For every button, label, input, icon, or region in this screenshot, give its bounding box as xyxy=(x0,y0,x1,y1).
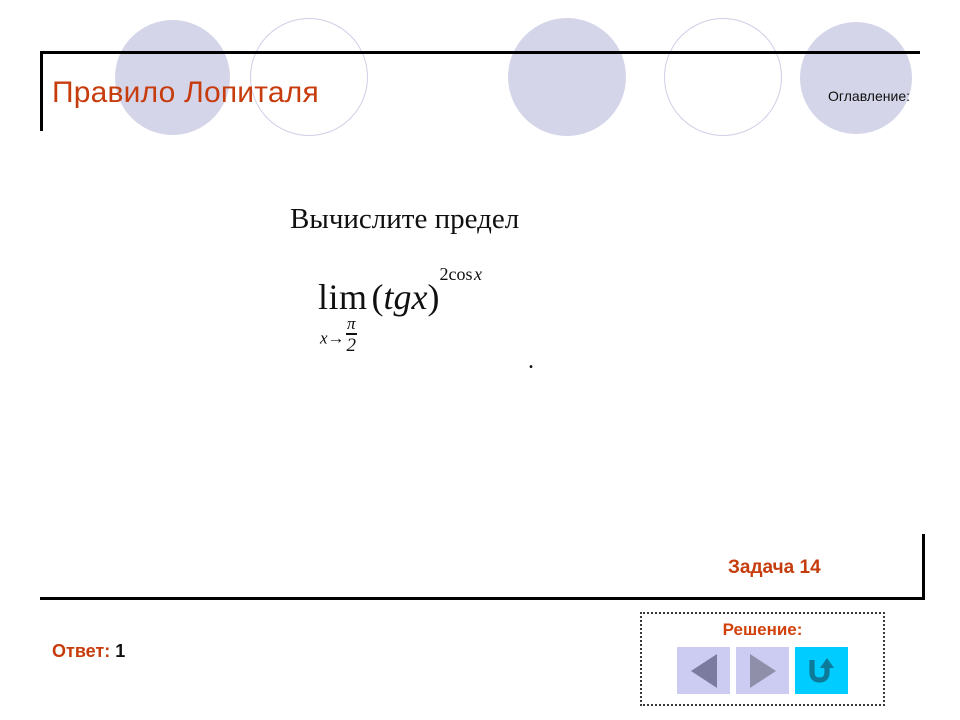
decor-circle-4 xyxy=(664,18,782,136)
decor-circle-5 xyxy=(800,22,912,134)
header-rule-horizontal xyxy=(40,51,920,54)
navigation-panel: Решение: xyxy=(640,612,885,706)
solution-label[interactable]: Решение: xyxy=(642,620,883,640)
exponent: 2cos x xyxy=(440,265,483,283)
open-paren: ( xyxy=(372,277,384,317)
limit-operator: lim x→π2 xyxy=(318,278,368,355)
contents-label[interactable]: Оглавление: xyxy=(828,88,910,104)
previous-slide-button[interactable] xyxy=(677,647,730,694)
exponent-variable: x xyxy=(474,264,482,284)
fraction-numerator: π xyxy=(346,315,358,332)
answer-line: Ответ:1 xyxy=(52,641,125,662)
limit-sub-fraction: π2 xyxy=(346,315,358,355)
answer-value: 1 xyxy=(115,641,125,661)
u-turn-arrow-icon xyxy=(805,654,839,688)
limit-sub-variable: x xyxy=(320,329,328,348)
return-home-button[interactable] xyxy=(795,647,848,694)
exponent-coefficient: 2 xyxy=(440,264,449,284)
slide-canvas: Правило Лопиталя Оглавление: Вычислите п… xyxy=(0,0,960,720)
fraction-denominator: 2 xyxy=(346,336,358,355)
navigation-button-row xyxy=(642,647,883,694)
tangent-base: tgx xyxy=(384,277,428,317)
limit-sub-arrow: → xyxy=(328,329,345,348)
exponent-function: cos xyxy=(449,264,473,284)
task-number: Задача 14 xyxy=(728,557,821,579)
limit-formula: lim x→π2 (tgx)2cos x xyxy=(318,278,440,355)
triangle-left-icon xyxy=(691,654,717,688)
next-slide-button[interactable] xyxy=(736,647,789,694)
formula-period: . xyxy=(528,348,534,375)
footer-rule-horizontal xyxy=(40,597,925,600)
lim-symbol: lim xyxy=(318,278,368,316)
decor-circle-3 xyxy=(508,18,626,136)
close-paren: ) xyxy=(428,277,440,317)
answer-label: Ответ: xyxy=(52,641,110,661)
limit-expression: (tgx)2cos x xyxy=(372,278,440,316)
page-title: Правило Лопиталя xyxy=(52,76,319,110)
footer-rule-vertical xyxy=(922,534,925,600)
limit-subscript: x→π2 xyxy=(318,315,368,355)
header-rule-vertical xyxy=(40,51,43,131)
triangle-right-icon xyxy=(750,654,776,688)
problem-prompt: Вычислите предел xyxy=(290,203,519,236)
